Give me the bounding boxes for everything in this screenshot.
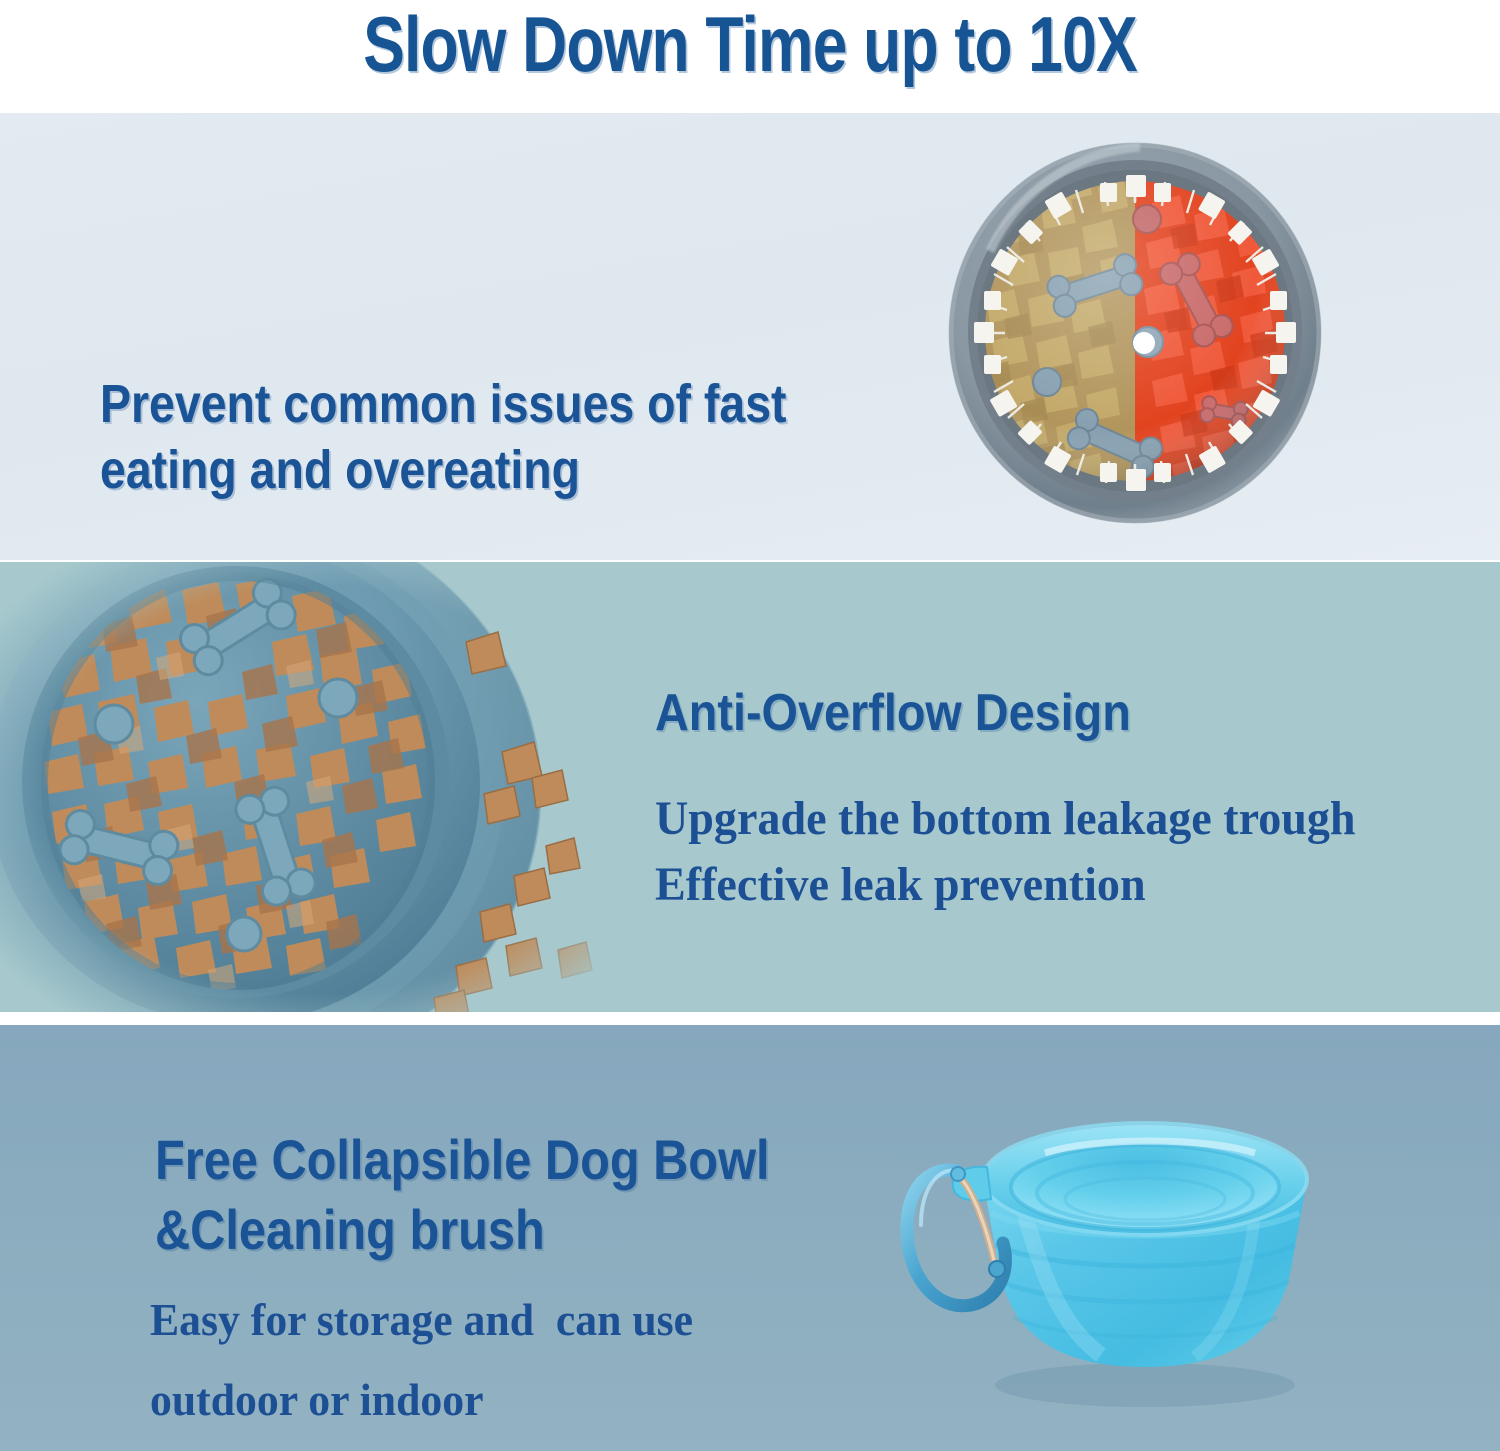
panel1-line-1: Prevent common issues of fast bbox=[100, 371, 797, 437]
panel2-line-1: Upgrade the bottom leakage trough bbox=[655, 786, 1461, 852]
page-title: Slow Down Time up to 10X bbox=[150, 0, 1350, 94]
panel2-body: Upgrade the bottom leakage trough Effect… bbox=[655, 786, 1461, 918]
panel3-heading-line-1: Free Collapsible Dog Bowl bbox=[155, 1125, 903, 1195]
headline-band: Slow Down Time up to 10X bbox=[0, 0, 1500, 113]
panel-free-collapsible-bowl: Free Collapsible Dog Bowl &Cleaning brus… bbox=[0, 1025, 1500, 1451]
timer-bowl-top-view bbox=[940, 131, 1330, 531]
panel-anti-overflow: Anti-Overflow Design Upgrade the bottom … bbox=[0, 562, 1500, 1012]
panel1-line-2: eating and overeating bbox=[100, 437, 797, 503]
product-infographic: Slow Down Time up to 10X Prevent common … bbox=[0, 0, 1500, 1451]
panel-prevent-fast-eating: Prevent common issues of fast eating and… bbox=[0, 113, 1500, 560]
slow-feeder-bowl-photo bbox=[0, 562, 646, 1012]
collapsible-dog-bowl bbox=[895, 1105, 1365, 1415]
panel3-line-1: Easy for storage and can use bbox=[150, 1280, 967, 1360]
panel2-heading: Anti-Overflow Design bbox=[655, 682, 1411, 744]
panel2-line-2: Effective leak prevention bbox=[655, 852, 1461, 918]
panel3-line-2: outdoor or indoor bbox=[150, 1360, 967, 1440]
panel1-text: Prevent common issues of fast eating and… bbox=[100, 371, 797, 503]
panel3-heading: Free Collapsible Dog Bowl &Cleaning brus… bbox=[155, 1125, 903, 1265]
panel2-text: Anti-Overflow Design Upgrade the bottom … bbox=[655, 682, 1495, 918]
panel3-heading-line-2: &Cleaning brush bbox=[155, 1195, 903, 1265]
panel3-body: Easy for storage and can use outdoor or … bbox=[150, 1280, 967, 1440]
